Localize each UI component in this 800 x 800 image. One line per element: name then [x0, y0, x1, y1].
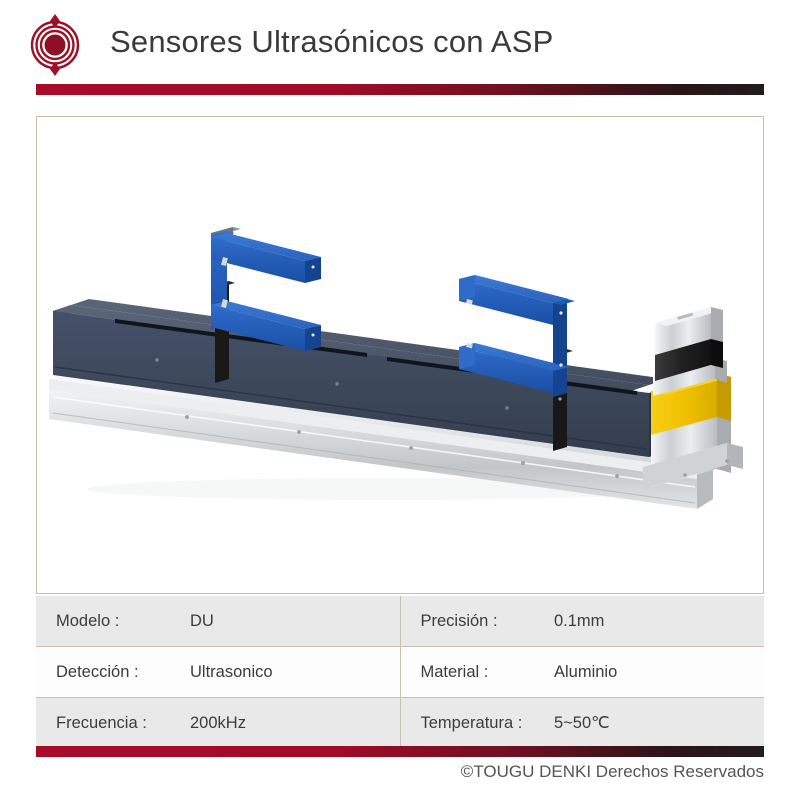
spec-value-modelo: DU [186, 596, 400, 647]
spec-value-temperatura: 5~50℃ [550, 698, 764, 749]
spec-key-modelo: Modelo : [36, 596, 186, 647]
table-row: Modelo : DU Precisión : 0.1mm [36, 596, 764, 647]
footer-accent-rule [36, 746, 764, 757]
spec-value-frecuencia: 200kHz [186, 698, 400, 749]
spec-key-frecuencia: Frecuencia : [36, 698, 186, 749]
header-accent-rule [36, 84, 764, 95]
spec-key-material: Material : [400, 647, 550, 698]
page-title: Sensores Ultrasónicos con ASP [110, 24, 553, 60]
table-row: Frecuencia : 200kHz Temperatura : 5~50℃ [36, 698, 764, 749]
spec-value-deteccion: Ultrasonico [186, 647, 400, 698]
spec-key-precision: Precisión : [400, 596, 550, 647]
spec-key-temperatura: Temperatura : [400, 698, 550, 749]
table-row: Detección : Ultrasonico Material : Alumi… [36, 647, 764, 698]
tougu-denki-logo [26, 12, 84, 78]
specification-table: Modelo : DU Precisión : 0.1mm Detección … [36, 596, 764, 748]
product-image-panel [36, 116, 764, 594]
spec-value-precision: 0.1mm [550, 596, 764, 647]
spec-value-material: Aluminio [550, 647, 764, 698]
product-illustration [37, 117, 763, 593]
copyright-text: ©TOUGU DENKI Derechos Reservados [461, 762, 764, 782]
page-header: Sensores Ultrasónicos con ASP [0, 0, 800, 95]
spec-key-deteccion: Detección : [36, 647, 186, 698]
